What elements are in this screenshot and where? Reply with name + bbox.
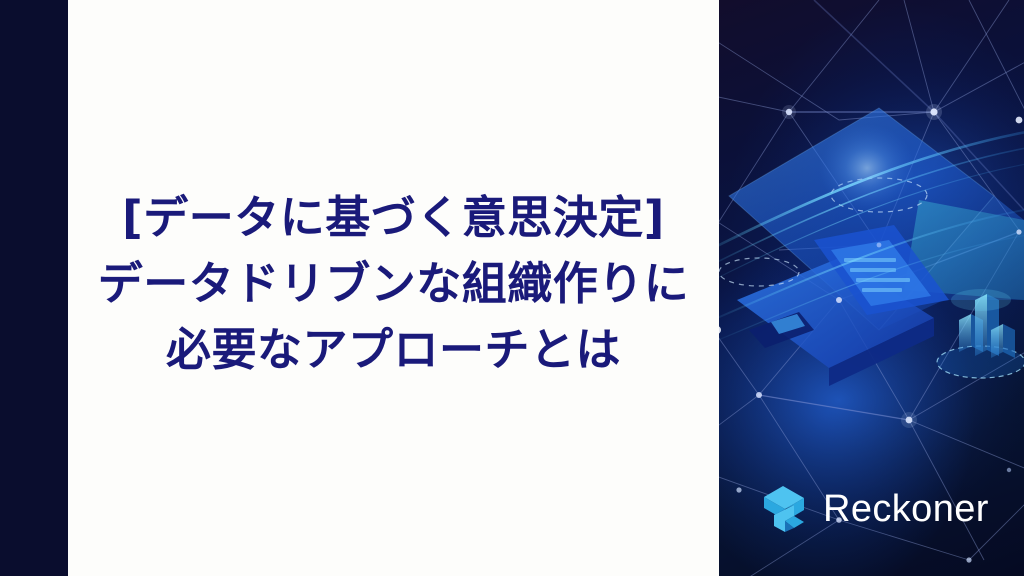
hero-image-panel: Reckoner (719, 0, 1024, 576)
title-panel: [データに基づく意思決定] データドリブンな組織作りに 必要なアプローチとは (68, 0, 719, 576)
glow-core (819, 124, 915, 212)
reckoner-logo-icon (761, 485, 807, 533)
brand-name: Reckoner (823, 490, 989, 528)
title-line-3: 必要なアプローチとは (68, 317, 719, 383)
page-title: [データに基づく意思決定] データドリブンな組織作りに 必要なアプローチとは (68, 185, 719, 391)
slide-root: [データに基づく意思決定] データドリブンな組織作りに 必要なアプローチとは (0, 0, 1024, 576)
brand-lockup: Reckoner (761, 485, 989, 533)
title-line-1: [データに基づく意思決定] (68, 185, 719, 251)
left-accent-bar (0, 0, 68, 576)
title-line-2: データドリブンな組織作りに (68, 251, 719, 317)
